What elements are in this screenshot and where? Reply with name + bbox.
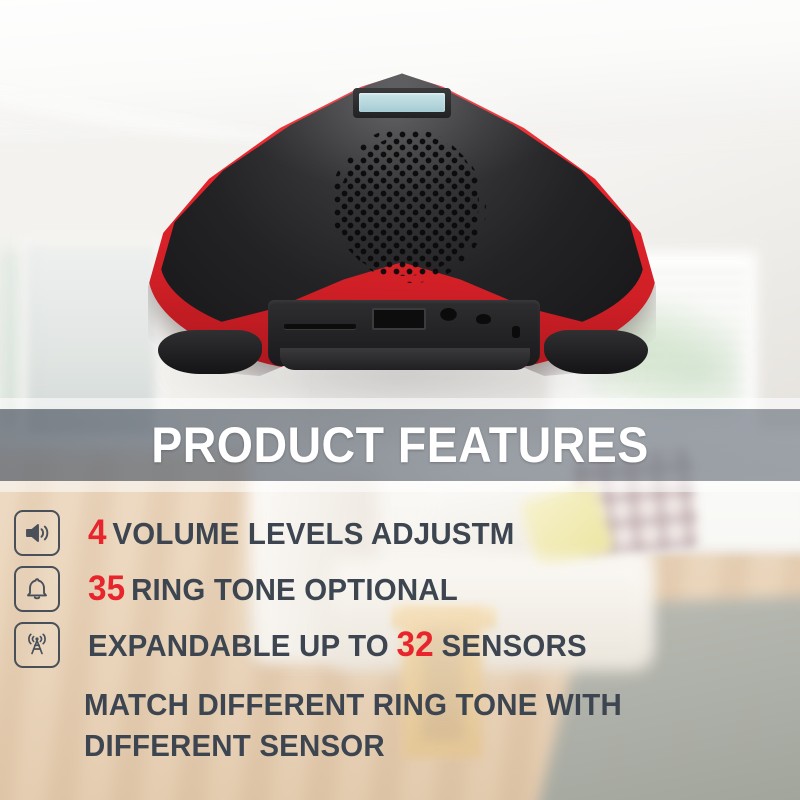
power-jack-port: [440, 308, 457, 322]
feature-row-sensors: EXPANDABLE UP TO32SENSORS: [0, 617, 800, 673]
feature-text-volume: 4VOLUME LEVELS ADJUSTM: [88, 515, 515, 551]
feature-text-ringtone: 35RING TONE OPTIONAL: [88, 571, 458, 607]
feature-row-volume: 4VOLUME LEVELS ADJUSTM: [0, 505, 800, 561]
feature-number-ringtone: 35: [88, 569, 125, 608]
banner: PRODUCT FEATURES: [0, 398, 800, 492]
feature-note-match-ringtone: MATCH DIFFERENT RING TONE WITH DIFFERENT…: [84, 685, 764, 767]
device-front-lip: [280, 348, 530, 370]
feature-list: 4VOLUME LEVELS ADJUSTM 35RING TONE OPTIO…: [0, 505, 800, 767]
device-foot-left: [158, 330, 262, 374]
speaker-icon: [14, 510, 60, 556]
product-feature-poster: PRODUCT FEATURES 4VOLUME LEVELS ADJUSTM: [0, 0, 800, 800]
feature-number-volume: 4: [88, 513, 107, 552]
reset-button: [512, 326, 520, 338]
feature-label-sensors-before: EXPANDABLE UP TO: [88, 628, 389, 663]
banner-bottom-strip: [0, 481, 800, 492]
usb-port: [372, 308, 426, 330]
feature-label-volume: VOLUME LEVELS ADJUSTM: [112, 516, 514, 551]
lcd-display: [359, 93, 445, 112]
feature-label-sensors-after: SENSORS: [441, 628, 586, 663]
bell-icon: [14, 566, 60, 612]
feature-label-ringtone: RING TONE OPTIONAL: [131, 572, 458, 607]
card-slot-port: [284, 324, 356, 329]
antenna-tower-icon: [14, 622, 60, 668]
aux-jack-port: [476, 314, 491, 324]
speaker-grille-offset: [338, 135, 486, 283]
device-foot-right: [544, 330, 648, 374]
feature-row-ringtone: 35RING TONE OPTIONAL: [0, 561, 800, 617]
product-image-alarm-host: [140, 48, 664, 390]
page-title: PRODUCT FEATURES: [28, 409, 772, 481]
feature-number-sensors: 32: [396, 625, 433, 664]
feature-text-sensors: EXPANDABLE UP TO32SENSORS: [88, 627, 587, 663]
